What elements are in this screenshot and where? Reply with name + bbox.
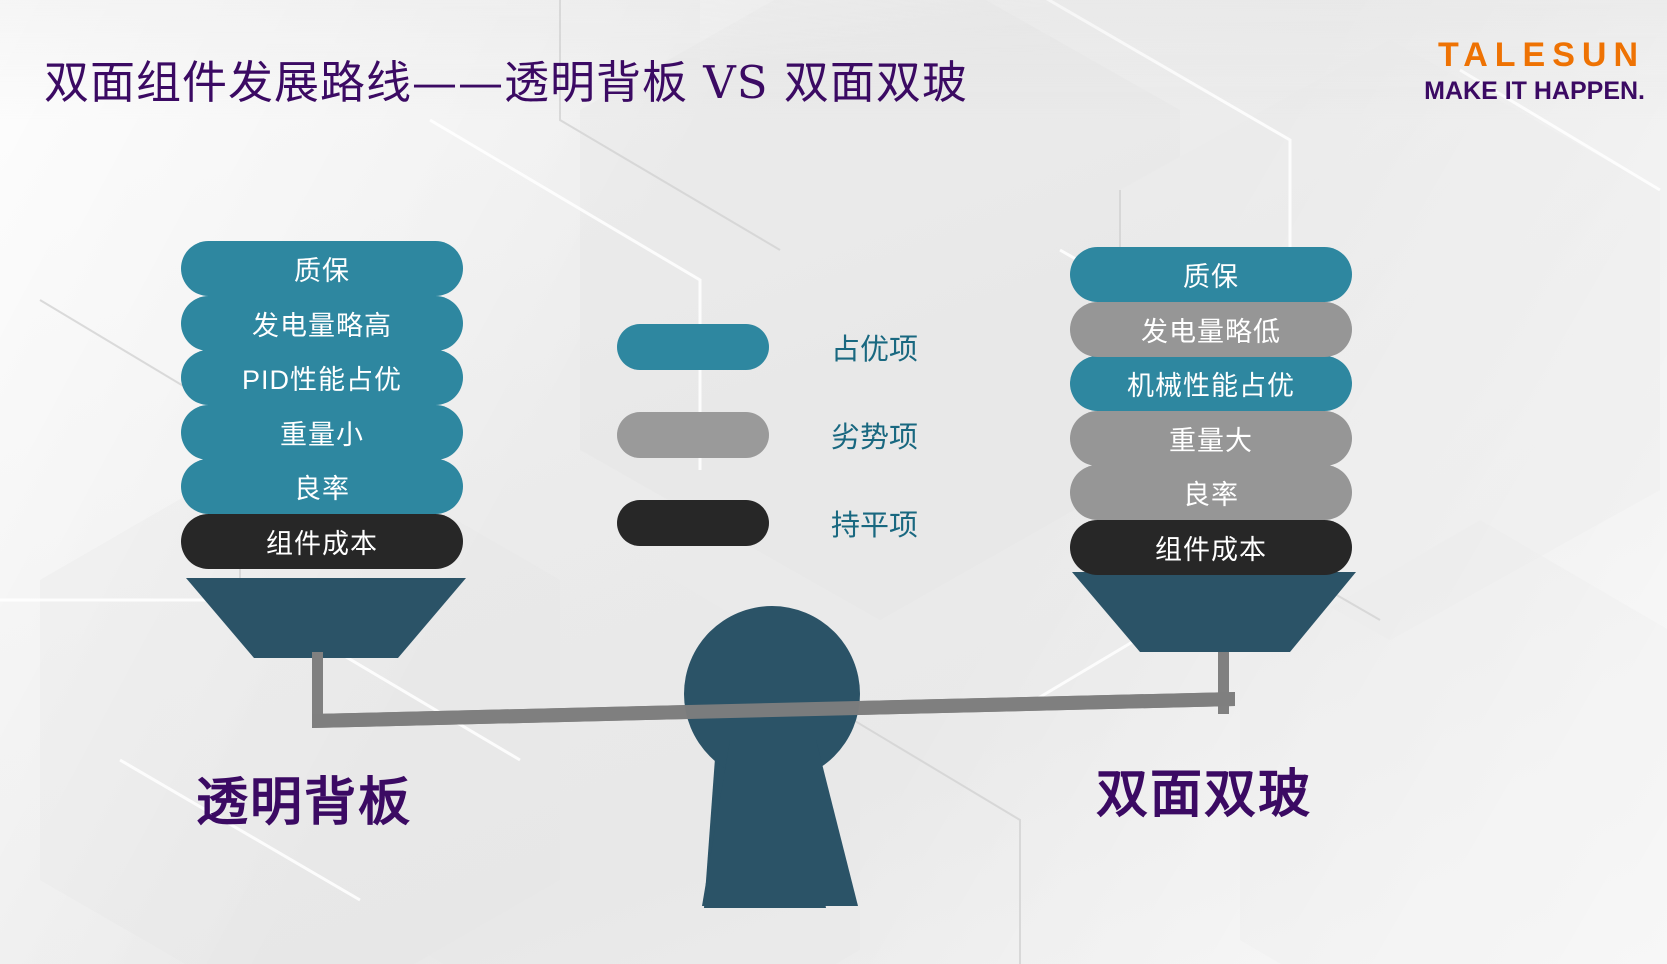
slide-canvas: 双面组件发展路线——透明背板 VS 双面双玻 TALESUN MAKE IT H…: [0, 0, 1667, 964]
right-pan: [1072, 572, 1356, 652]
balance-beam: [312, 692, 1235, 728]
legend-label-advantage: 占优项: [831, 326, 918, 368]
legend-row-disadvantage: 劣势项: [617, 391, 918, 479]
brand-logo: TALESUN MAKE IT HAPPEN.: [1424, 38, 1645, 107]
right-post: [1218, 652, 1229, 714]
balance-beam-overlay: [312, 692, 1235, 728]
right-pill-4[interactable]: 重量大: [1070, 411, 1352, 466]
right-side-label: 双面双玻: [1096, 752, 1312, 827]
right-pill-5[interactable]: 良率: [1070, 465, 1352, 520]
left-post: [312, 652, 323, 724]
legend-swatch-disadvantage: [617, 412, 769, 458]
legend-row-equal: 持平项: [617, 479, 918, 567]
left-pan: [186, 578, 466, 658]
legend: 占优项 劣势项 持平项: [617, 303, 918, 567]
right-feature-stack: 质保 发电量略低 机械性能占优 重量大 良率 组件成本: [1070, 247, 1352, 574]
logo-brand-text: TALESUN: [1424, 38, 1645, 72]
left-pill-5[interactable]: 良率: [181, 459, 463, 514]
legend-label-equal: 持平项: [831, 502, 918, 544]
fulcrum-base-flare: [702, 740, 858, 906]
left-pill-6[interactable]: 组件成本: [181, 514, 463, 569]
legend-row-advantage: 占优项: [617, 303, 918, 391]
legend-label-disadvantage: 劣势项: [831, 414, 918, 456]
left-pill-2[interactable]: 发电量略高: [181, 296, 463, 351]
legend-swatch-advantage: [617, 324, 769, 370]
right-pill-3[interactable]: 机械性能占优: [1070, 356, 1352, 411]
left-pill-4[interactable]: 重量小: [181, 405, 463, 460]
page-title: 双面组件发展路线——透明背板 VS 双面双玻: [44, 58, 968, 108]
right-pill-2[interactable]: 发电量略低: [1070, 302, 1352, 357]
legend-swatch-equal: [617, 500, 769, 546]
left-pill-3[interactable]: PID性能占优: [181, 350, 463, 405]
fulcrum-stem: [704, 690, 826, 908]
left-side-label: 透明背板: [196, 760, 412, 835]
logo-tagline-text: MAKE IT HAPPEN.: [1424, 76, 1645, 107]
right-pill-6[interactable]: 组件成本: [1070, 520, 1352, 575]
fulcrum-circle: [684, 606, 860, 782]
left-feature-stack: 质保 发电量略高 PID性能占优 重量小 良率 组件成本: [181, 241, 463, 568]
right-pill-1[interactable]: 质保: [1070, 247, 1352, 302]
left-pill-1[interactable]: 质保: [181, 241, 463, 296]
